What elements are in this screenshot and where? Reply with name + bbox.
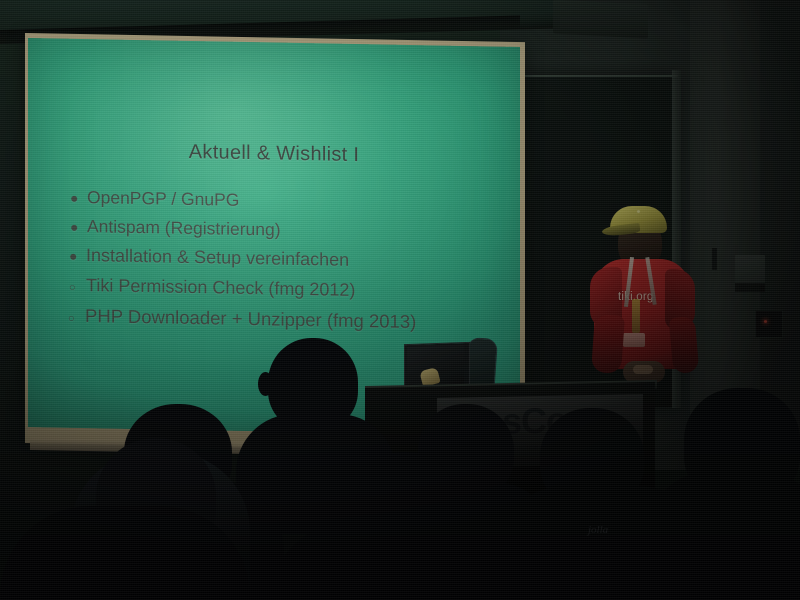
wall-sensor-box <box>755 310 783 338</box>
light-switch-shadow <box>735 283 765 292</box>
speaker-hands-highlight <box>633 365 653 374</box>
speaker-badge-strap <box>632 299 640 333</box>
ceiling-projector <box>553 0 648 38</box>
audience-shirt-logo: jolla <box>588 524 608 536</box>
light-switch-panel[interactable] <box>735 255 765 285</box>
status-led-icon <box>764 320 767 323</box>
conference-room-photo: Aktuell & Wishlist I ● OpenPGP / GnuPG ●… <box>0 0 800 600</box>
speaker: tiki.org <box>585 195 715 410</box>
speaker-arm-left <box>591 314 625 374</box>
audience-ear <box>258 372 273 396</box>
audience-shoulder <box>266 520 566 600</box>
speaker-cap-button <box>637 210 640 213</box>
speaker-badge <box>623 333 645 347</box>
speaker-arm-right <box>669 316 700 374</box>
